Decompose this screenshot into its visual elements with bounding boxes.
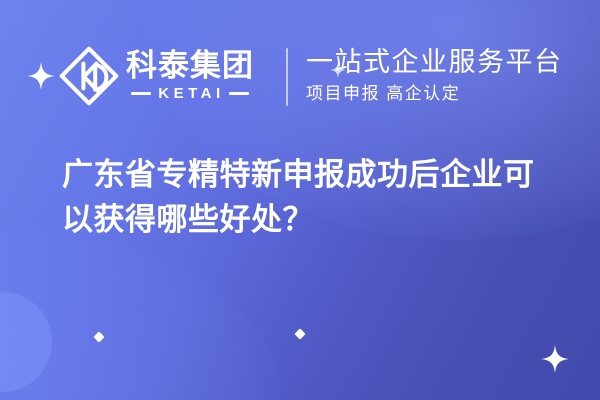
background-circle-left bbox=[0, 292, 52, 392]
four-point-sparkle-icon-bottom-right bbox=[541, 345, 569, 373]
page-title: 广东省专精特新申报成功后企业可以获得哪些好处？ bbox=[62, 152, 562, 242]
header-divider bbox=[286, 48, 288, 106]
brand-name-cn: 科泰集团 bbox=[126, 50, 254, 83]
banner-header: 科泰集团 KETAI 一站式企业服务平台 项目申报 高企认定 bbox=[0, 38, 600, 114]
background-glow-bottom bbox=[0, 230, 280, 400]
brand-logo: 科泰集团 KETAI bbox=[58, 40, 254, 112]
right-rule bbox=[229, 92, 249, 95]
diamond-sparkle-icon-mid bbox=[294, 328, 305, 339]
four-point-sparkle-icon bbox=[27, 62, 55, 90]
left-rule bbox=[131, 92, 151, 95]
diamond-sparkle-icon-left bbox=[93, 331, 104, 342]
promo-banner: 科泰集团 KETAI 一站式企业服务平台 项目申报 高企认定 广东省专精特新申报… bbox=[0, 0, 600, 400]
brand-name-en-row: KETAI bbox=[126, 85, 254, 102]
small-sparkle-icon bbox=[330, 62, 346, 78]
brand-name-en: KETAI bbox=[158, 85, 224, 102]
ketai-diamond-kd-logo-icon bbox=[58, 45, 120, 107]
tagline-sub: 项目申报 高企认定 bbox=[306, 83, 563, 104]
tagline-block: 一站式企业服务平台 项目申报 高企认定 bbox=[306, 38, 563, 114]
brand-wordmark: 科泰集团 KETAI bbox=[126, 50, 254, 103]
